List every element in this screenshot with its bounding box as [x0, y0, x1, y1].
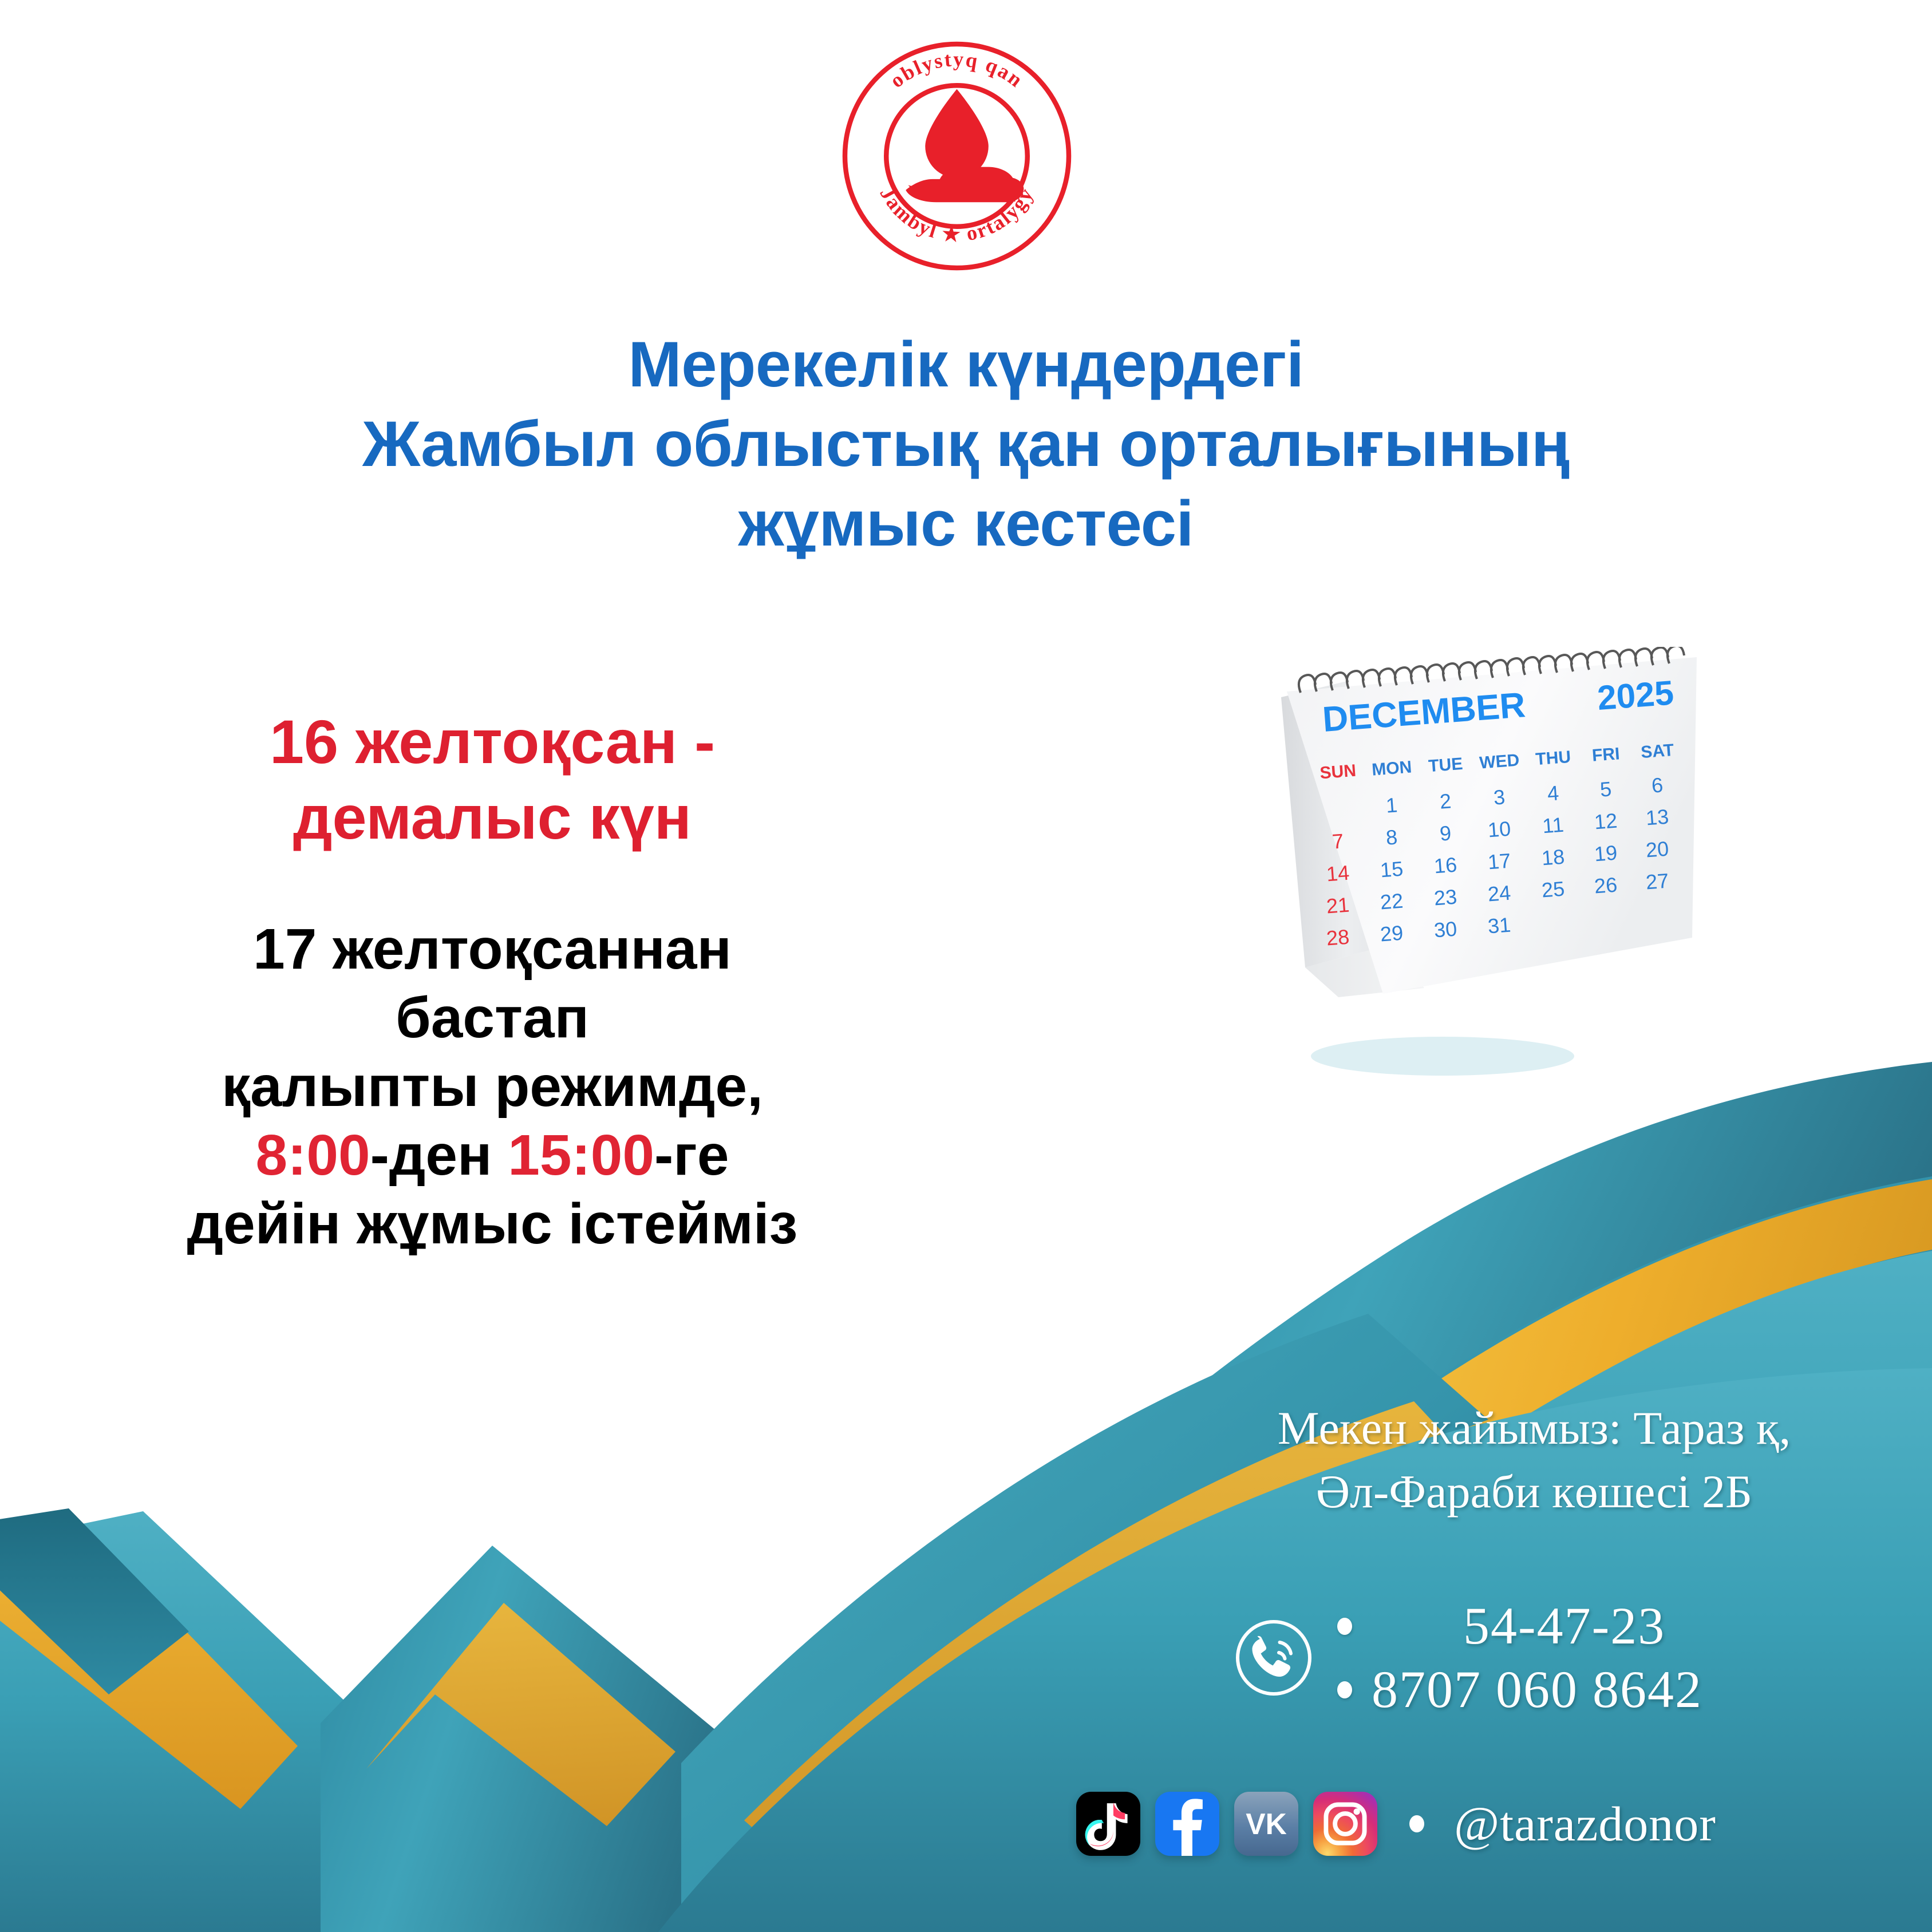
calendar-svg: DECEMBER 2025 SUNMONTUEWEDTHUFRISAT 1234… [1271, 647, 1706, 1048]
bullet-dot-icon [1337, 1681, 1352, 1698]
page-title: Мерекелік күндердегі Жамбыл облыстық қан… [0, 325, 1932, 564]
ribbon-vfold-center [321, 1546, 756, 1932]
time-from: 8:00 [255, 1123, 370, 1187]
phone-call-icon [1231, 1615, 1317, 1701]
calendar-year-label: 2025 [1596, 673, 1675, 717]
phone-number-list: 54-47-23 8707 060 8642 [1337, 1597, 1702, 1718]
holiday-line-1: 16 желтоқсан - [69, 704, 916, 780]
calendar-day-1: 1 [1385, 793, 1398, 817]
ribbon-left-gold [0, 1523, 298, 1809]
calendar-day-26: 26 [1594, 873, 1618, 898]
phone-row[interactable]: 8707 060 8642 [1337, 1661, 1702, 1718]
calendar-day-22: 22 [1380, 889, 1404, 914]
calendar-day-29: 29 [1380, 921, 1404, 946]
calendar-day-19: 19 [1594, 841, 1618, 866]
tiktok-icon[interactable] [1076, 1792, 1140, 1856]
instagram-glyph [1313, 1792, 1377, 1856]
calendar-day-2: 2 [1439, 789, 1452, 813]
calendar-weekday-thu: THU [1535, 748, 1571, 769]
calendar-day-13: 13 [1645, 805, 1670, 830]
vk-glyph: VK [1234, 1792, 1298, 1856]
title-line-3: жұмыс кестесі [0, 484, 1932, 564]
calendar-day-9: 9 [1439, 821, 1452, 845]
schedule-time-line: 8:00-ден 15:00-ге [69, 1121, 916, 1190]
calendar-day-7: 7 [1332, 829, 1345, 853]
svg-text:VK: VK [1246, 1807, 1287, 1840]
calendar-weekday-wed: WED [1479, 751, 1520, 773]
calendar-day-16: 16 [1433, 853, 1458, 878]
phone-row[interactable]: 54-47-23 [1337, 1597, 1702, 1655]
calendar-weekday-sat: SAT [1640, 741, 1674, 762]
ribbon-left-band [0, 1511, 435, 1932]
social-links-row: VK @tarazdonor [1076, 1792, 1716, 1856]
holiday-line-2: демалыс күн [69, 780, 916, 855]
calendar-day-12: 12 [1594, 809, 1618, 834]
address-block: Мекен жайымыз: Тараз қ, Әл-Фараби көшесі… [1162, 1397, 1906, 1523]
instagram-icon[interactable] [1313, 1792, 1377, 1856]
working-hours-notice: 17 желтоқсаннан бастап қалыпты режимде, … [69, 915, 916, 1258]
ribbon-gold-stripe-main [1225, 1179, 1932, 1600]
calendar-day-11: 11 [1542, 813, 1564, 838]
calendar-weekday-tue: TUE [1428, 754, 1463, 776]
facebook-icon[interactable] [1155, 1792, 1219, 1856]
calendar-day-18: 18 [1541, 845, 1566, 870]
calendar-day-31: 31 [1487, 913, 1512, 938]
bullet-dot-icon [1409, 1815, 1424, 1832]
calendar-day-20: 20 [1645, 837, 1670, 862]
time-from-suffix: -ден [370, 1123, 492, 1187]
title-line-1: Мерекелік күндердегі [0, 325, 1932, 405]
schedule-line-2: бастап [69, 983, 916, 1052]
calendar-day-25: 25 [1541, 877, 1566, 902]
calendar-day-3: 3 [1493, 785, 1506, 809]
calendar-day-28: 28 [1326, 925, 1350, 950]
logo-svg: oblystyq qan Jambyl ★ ortalyǵy [835, 34, 1078, 278]
calendar-day-10: 10 [1487, 817, 1512, 842]
phone-icon-svg [1231, 1615, 1317, 1701]
calendar-weekday-fri: FRI [1591, 744, 1621, 765]
calendar-day-14: 14 [1326, 861, 1350, 886]
poster-canvas: oblystyq qan Jambyl ★ ortalyǵy Мерекелік… [0, 0, 1932, 1932]
calendar-day-27: 27 [1645, 869, 1670, 894]
phone-number-2[interactable]: 8707 060 8642 [1372, 1661, 1702, 1718]
schedule-text-block: 16 желтоқсан - демалыс күн 17 желтоқсанн… [69, 704, 916, 1258]
calendar-day-23: 23 [1433, 885, 1458, 910]
social-handle[interactable]: @tarazdonor [1454, 1795, 1716, 1852]
facebook-glyph [1155, 1792, 1219, 1856]
ribbon-left-edge [0, 1508, 189, 1694]
december-2025-calendar: DECEMBER 2025 SUNMONTUEWEDTHUFRISAT 1234… [1271, 647, 1706, 1048]
calendar-weekday-sun: SUN [1319, 761, 1357, 783]
phone-contact-block: 54-47-23 8707 060 8642 [1231, 1597, 1702, 1718]
calendar-day-24: 24 [1487, 881, 1512, 906]
phone-number-1[interactable]: 54-47-23 [1463, 1597, 1665, 1655]
address-line-1: Мекен жайымыз: Тараз қ, [1162, 1397, 1906, 1460]
vk-icon[interactable]: VK [1234, 1792, 1298, 1856]
bullet-dot-icon [1337, 1618, 1352, 1635]
schedule-line-5: дейін жұмыс істейміз [69, 1190, 916, 1258]
time-to-suffix: -ге [654, 1123, 729, 1187]
schedule-line-3: қалыпты режимде, [69, 1052, 916, 1121]
holiday-notice: 16 желтоқсан - демалыс күн [69, 704, 916, 855]
address-line-2: Әл-Фараби көшесі 2Б [1162, 1460, 1906, 1524]
calendar-day-30: 30 [1433, 917, 1458, 942]
calendar-day-4: 4 [1547, 781, 1560, 805]
calendar-day-15: 15 [1380, 857, 1404, 882]
calendar-day-5: 5 [1599, 777, 1613, 801]
calendar-day-8: 8 [1385, 825, 1398, 849]
time-to: 15:00 [508, 1123, 654, 1187]
calendar-day-6: 6 [1651, 773, 1664, 797]
calendar-day-21: 21 [1326, 893, 1350, 918]
ribbon-vfold-gold [366, 1603, 675, 1826]
schedule-line-1: 17 желтоқсаннан [69, 915, 916, 983]
tiktok-glyph [1076, 1792, 1140, 1856]
organization-logo: oblystyq qan Jambyl ★ ortalyǵy [835, 34, 1078, 278]
calendar-day-17: 17 [1487, 849, 1512, 874]
calendar-weekday-mon: MON [1371, 758, 1412, 780]
title-line-2: Жамбыл облыстық қан орталығының [0, 405, 1932, 484]
